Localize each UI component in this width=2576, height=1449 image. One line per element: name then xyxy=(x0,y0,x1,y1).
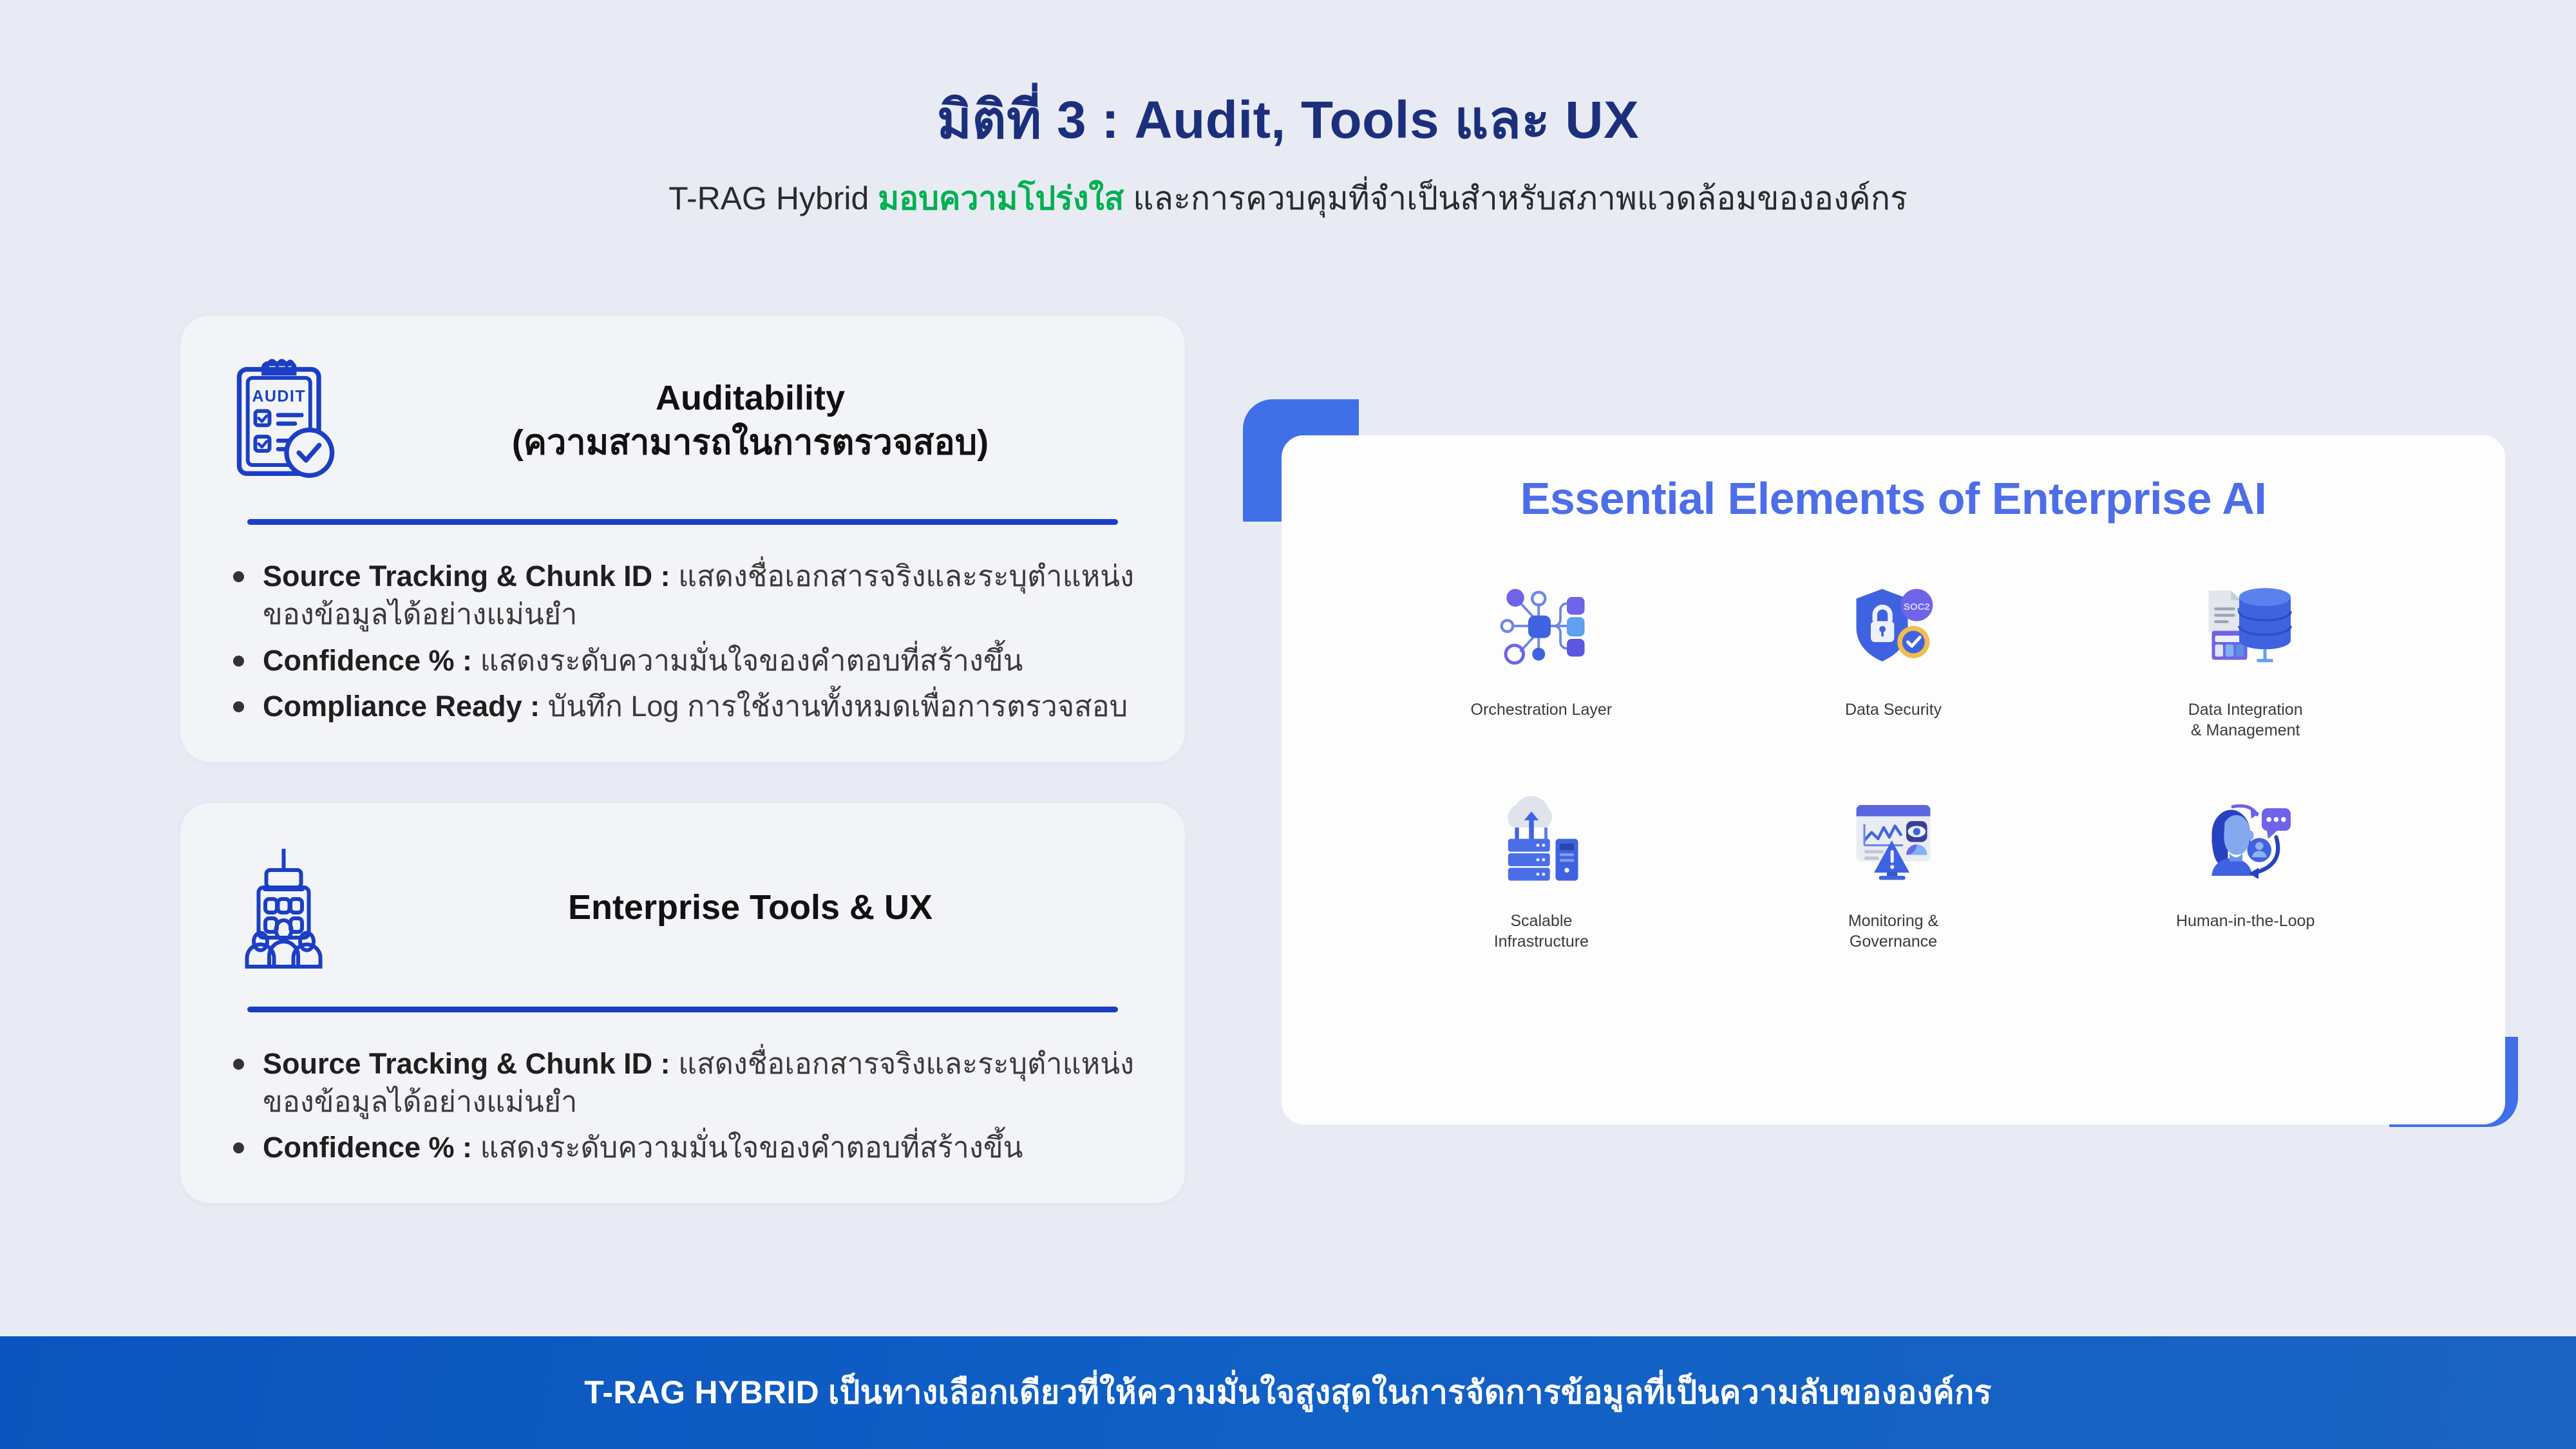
bullet-term: Compliance Ready : xyxy=(263,690,540,723)
enterprise-building-people-icon xyxy=(225,840,348,976)
slide-header: มิติที่ 3 : Audit, Tools และ UX T-RAG Hy… xyxy=(0,0,2576,220)
card-bullet-list: Source Tracking & Chunk ID : แสดงชื่อเอก… xyxy=(225,557,1140,726)
svg-text:SOC2: SOC2 xyxy=(1904,601,1930,612)
subtitle-suffix: และการควบคุมที่จำเป็นสำหรับสภาพแวดล้อมขอ… xyxy=(1124,180,1908,216)
bullet-desc: แสดงระดับความมั่นใจของคำตอบที่สร้างขึ้น xyxy=(472,644,1023,677)
shield-lock-soc2-icon: SOC2 xyxy=(1819,562,1967,690)
bullet-term: Confidence % : xyxy=(263,1131,472,1164)
person-chat-loop-icon xyxy=(2172,773,2320,902)
grid-item-monitoring-governance: Monitoring &Governance xyxy=(1718,773,2070,952)
bullet-term: Source Tracking & Chunk ID : xyxy=(263,560,670,592)
infographic-title: Essential Elements of Enterprise AI xyxy=(1282,473,2505,524)
page-subtitle: T-RAG Hybrid มอบความโปร่งใส และการควบคุม… xyxy=(0,178,2576,220)
grid-item-data-integration: Data Integration& Management xyxy=(2069,562,2421,741)
bullet-term: Source Tracking & Chunk ID : xyxy=(263,1047,670,1080)
grid-item-label: Data Integration& Management xyxy=(2188,699,2303,741)
grid-item-orchestration-layer: Orchestration Layer xyxy=(1365,562,1718,741)
database-document-icon xyxy=(2172,562,2320,690)
footer-text: T-RAG HYBRID เป็นทางเลือกเดียวที่ให้ความ… xyxy=(584,1367,1991,1418)
bullet-desc: แสดงระดับความมั่นใจของคำตอบที่สร้างขึ้น xyxy=(472,1131,1023,1164)
grid-item-label: Human-in-the-Loop xyxy=(2176,911,2315,931)
card-title: Enterprise Tools & UX xyxy=(374,885,1140,930)
page-title: มิติที่ 3 : Audit, Tools และ UX xyxy=(0,90,2576,151)
bullet-desc: บันทึก Log การใช้งานทั้งหมดเพื่อการตรวจส… xyxy=(540,690,1128,723)
grid-item-data-security: SOC2 Data Security xyxy=(1718,562,2070,741)
card-header: Enterprise Tools & UX xyxy=(225,834,1140,982)
footer-banner: T-RAG HYBRID เป็นทางเลือกเดียวที่ให้ความ… xyxy=(0,1336,2576,1449)
bullet-term: Confidence % : xyxy=(263,644,472,677)
card-auditability: AUDIT Auditability (ค xyxy=(180,316,1185,762)
grid-item-label: Data Security xyxy=(1845,699,1942,720)
subtitle-prefix: T-RAG Hybrid xyxy=(668,180,878,216)
infographic-panel: Essential Elements of Enterprise AI xyxy=(1282,435,2505,1124)
card-divider xyxy=(247,1007,1118,1012)
grid-item-label: Monitoring &Governance xyxy=(1848,911,1938,952)
orchestration-node-graph-icon xyxy=(1467,562,1615,690)
slide-body: AUDIT Auditability (ค xyxy=(0,316,2576,1301)
card-title-en: Enterprise Tools & UX xyxy=(568,888,933,927)
svg-text:AUDIT: AUDIT xyxy=(252,388,306,406)
list-item: Compliance Ready : บันทึก Log การใช้งานท… xyxy=(225,687,1140,725)
feature-card-column: AUDIT Auditability (ค xyxy=(180,316,1185,1203)
grid-item-human-in-the-loop: Human-in-the-Loop xyxy=(2069,773,2421,952)
cloud-server-rack-icon xyxy=(1467,773,1615,902)
card-title-th: (ความสามารถในการตรวจสอบ) xyxy=(374,421,1127,465)
list-item: Confidence % : แสดงระดับความมั่นใจของคำต… xyxy=(225,641,1140,679)
infographic-icon-grid: Orchestration Layer SOC2 xyxy=(1282,562,2505,952)
subtitle-highlight: มอบความโปร่งใส xyxy=(878,180,1124,216)
card-header: AUDIT Auditability (ค xyxy=(225,346,1140,495)
grid-item-label: Orchestration Layer xyxy=(1471,699,1613,720)
card-title-en: Auditability xyxy=(656,379,845,417)
card-bullet-list: Source Tracking & Chunk ID : แสดงชื่อเอก… xyxy=(225,1045,1140,1167)
grid-item-label: ScalableInfrastructure xyxy=(1494,911,1589,952)
card-title: Auditability (ความสามารถในการตรวจสอบ) xyxy=(374,376,1140,465)
list-item: Source Tracking & Chunk ID : แสดงชื่อเอก… xyxy=(225,1045,1140,1121)
list-item: Source Tracking & Chunk ID : แสดงชื่อเอก… xyxy=(225,557,1140,634)
card-divider xyxy=(247,519,1118,525)
list-item: Confidence % : แสดงระดับความมั่นใจของคำต… xyxy=(225,1128,1140,1166)
dashboard-chart-alert-icon xyxy=(1819,773,1967,902)
audit-clipboard-icon: AUDIT xyxy=(225,353,348,488)
grid-item-scalable-infrastructure: ScalableInfrastructure xyxy=(1365,773,1718,952)
card-enterprise-tools-ux: Enterprise Tools & UX Source Tracking & … xyxy=(180,803,1185,1203)
infographic-panel-wrapper: Essential Elements of Enterprise AI xyxy=(1243,399,2518,1127)
